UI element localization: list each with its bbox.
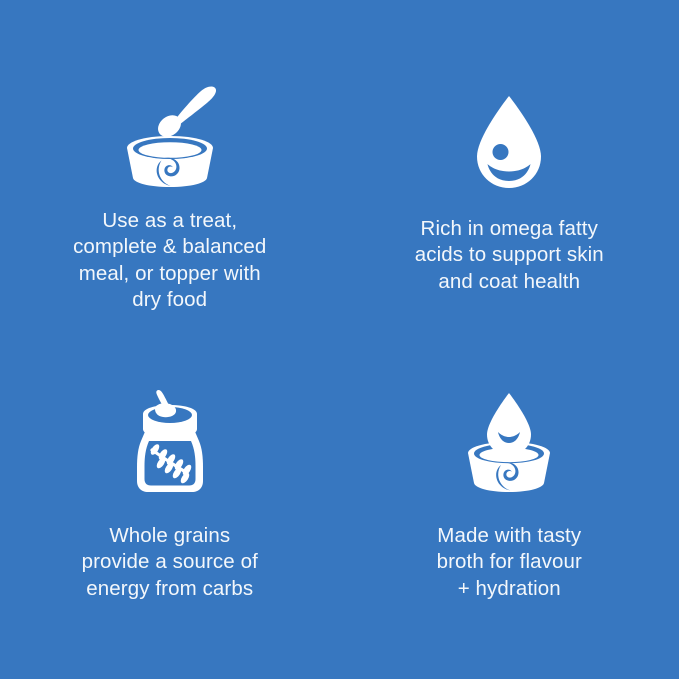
bowl-with-spoon-icon bbox=[95, 72, 245, 190]
grain-sack-with-scoop-icon bbox=[95, 385, 245, 503]
benefits-infographic: Use as a treat, complete & balanced meal… bbox=[0, 0, 679, 679]
feature-card-omega-fatty-acids: Rich in omega fatty acids to support ski… bbox=[340, 0, 679, 340]
feature-caption: Use as a treat, complete & balanced meal… bbox=[73, 208, 266, 313]
feature-caption: Whole grains provide a source of energy … bbox=[82, 523, 258, 602]
feature-caption: Rich in omega fatty acids to support ski… bbox=[415, 216, 604, 295]
feature-card-treat-meal-topper: Use as a treat, complete & balanced meal… bbox=[0, 0, 340, 340]
feature-caption: Made with tasty broth for flavour + hydr… bbox=[437, 523, 582, 602]
droplet-over-bowl-icon bbox=[434, 385, 584, 503]
feature-card-whole-grains: Whole grains provide a source of energy … bbox=[0, 340, 340, 679]
feature-card-tasty-broth: Made with tasty broth for flavour + hydr… bbox=[340, 340, 679, 679]
smiling-water-droplet-icon bbox=[434, 78, 584, 196]
features-grid: Use as a treat, complete & balanced meal… bbox=[0, 0, 679, 679]
